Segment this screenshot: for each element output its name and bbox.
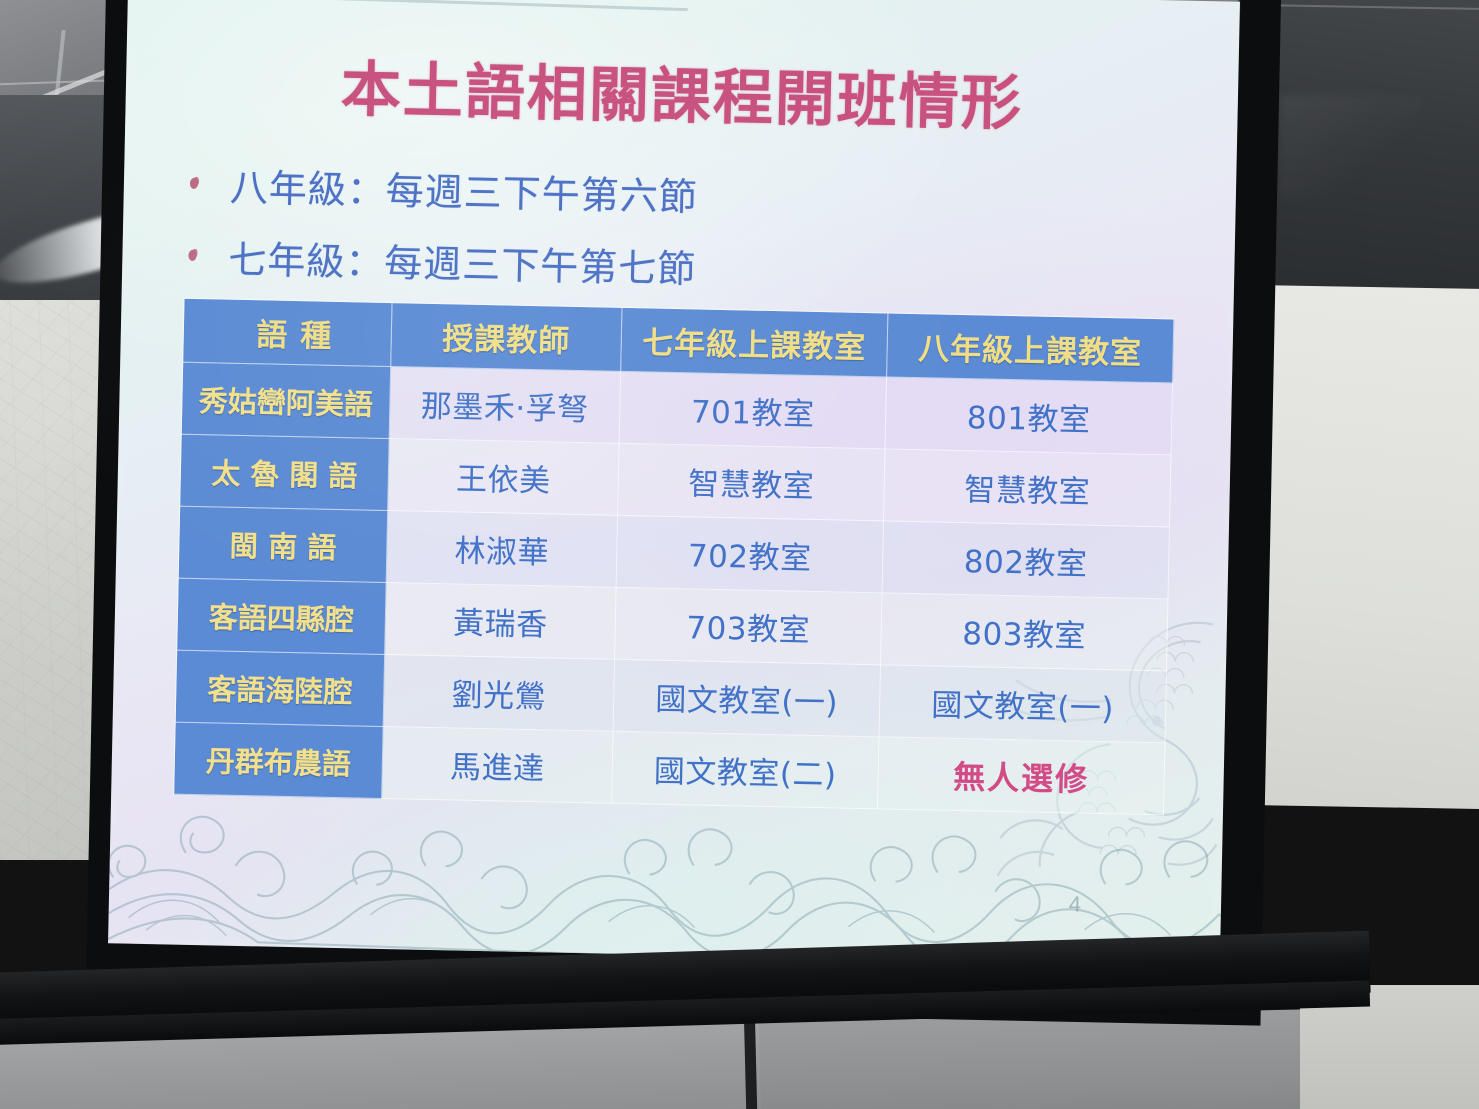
column-header-grade7-room: 七年級上課教室: [621, 307, 888, 377]
cell-language: 閩南語: [178, 506, 387, 582]
bullet-marker-icon: [186, 173, 206, 193]
cell-grade8-room: 智慧教室: [884, 449, 1171, 527]
cell-grade8-room: 國文教室(一): [879, 665, 1166, 743]
cell-teacher: 王依美: [388, 439, 619, 516]
presentation-slide: 本土語相關課程開班情形 八年級：每週三下午第六節 七年級：每週三下午第七節 語 …: [108, 0, 1240, 967]
cell-teacher: 那墨禾·孚弩: [389, 367, 620, 444]
cell-grade7-room: 智慧教室: [618, 443, 885, 521]
bullet-text: 八年級：每週三下午第六節: [229, 156, 698, 221]
cell-grade7-room: 國文教室(一): [613, 659, 880, 737]
slide-number: 4: [1069, 891, 1082, 917]
list-item: 七年級：每週三下午第七節: [184, 224, 1005, 303]
column-header-grade8-room: 八年級上課教室: [887, 313, 1174, 383]
bullet-marker-icon: [184, 245, 204, 265]
bullet-list: 八年級：每週三下午第六節 七年級：每週三下午第七節: [184, 152, 1007, 313]
cell-grade8-room: 802教室: [882, 521, 1169, 599]
course-schedule-table: 語 種 授課教師 七年級上課教室 八年級上課教室 秀姑巒阿美語 那墨禾·孚弩 7…: [173, 298, 1174, 816]
cell-teacher: 林淑華: [386, 511, 617, 588]
cell-teacher: 馬進達: [382, 726, 613, 803]
cell-language: 太魯閣語: [180, 434, 389, 510]
page-title: 本土語相關課程開班情形: [125, 36, 1239, 146]
bullet-text: 七年級：每週三下午第七節: [228, 228, 697, 293]
cell-language: 客語四縣腔: [177, 578, 386, 654]
slide-top-artifact: [128, 0, 688, 11]
cell-language: 客語海陸腔: [175, 650, 384, 726]
cell-grade7-room: 國文教室(二): [612, 731, 879, 809]
cell-teacher: 劉光鶯: [383, 654, 614, 731]
table-body: 秀姑巒阿美語 那墨禾·孚弩 701教室 801教室 太魯閣語 王依美 智慧教室 …: [174, 362, 1173, 815]
column-header-teacher: 授課教師: [391, 303, 622, 372]
column-header-language: 語 種: [183, 298, 392, 366]
cell-grade8-room: 801教室: [885, 377, 1172, 455]
list-item: 八年級：每週三下午第六節: [185, 152, 1006, 231]
cell-teacher: 黃瑞香: [385, 582, 616, 659]
cell-grade7-room: 703教室: [615, 587, 882, 665]
cell-grade7-room: 702教室: [616, 515, 883, 593]
cell-language: 秀姑巒阿美語: [181, 362, 390, 438]
whiteboard-right: [1238, 285, 1479, 809]
cell-grade8-room-status: 無人選修: [878, 737, 1165, 815]
classroom-projection-photo: 本土語相關課程開班情形 八年級：每週三下午第六節 七年級：每週三下午第七節 語 …: [0, 0, 1479, 1109]
cell-grade8-room: 803教室: [881, 593, 1168, 671]
cell-language: 丹群布農語: [174, 722, 383, 798]
cell-grade7-room: 701教室: [619, 371, 886, 449]
glass-reflection: [1280, 95, 1425, 200]
